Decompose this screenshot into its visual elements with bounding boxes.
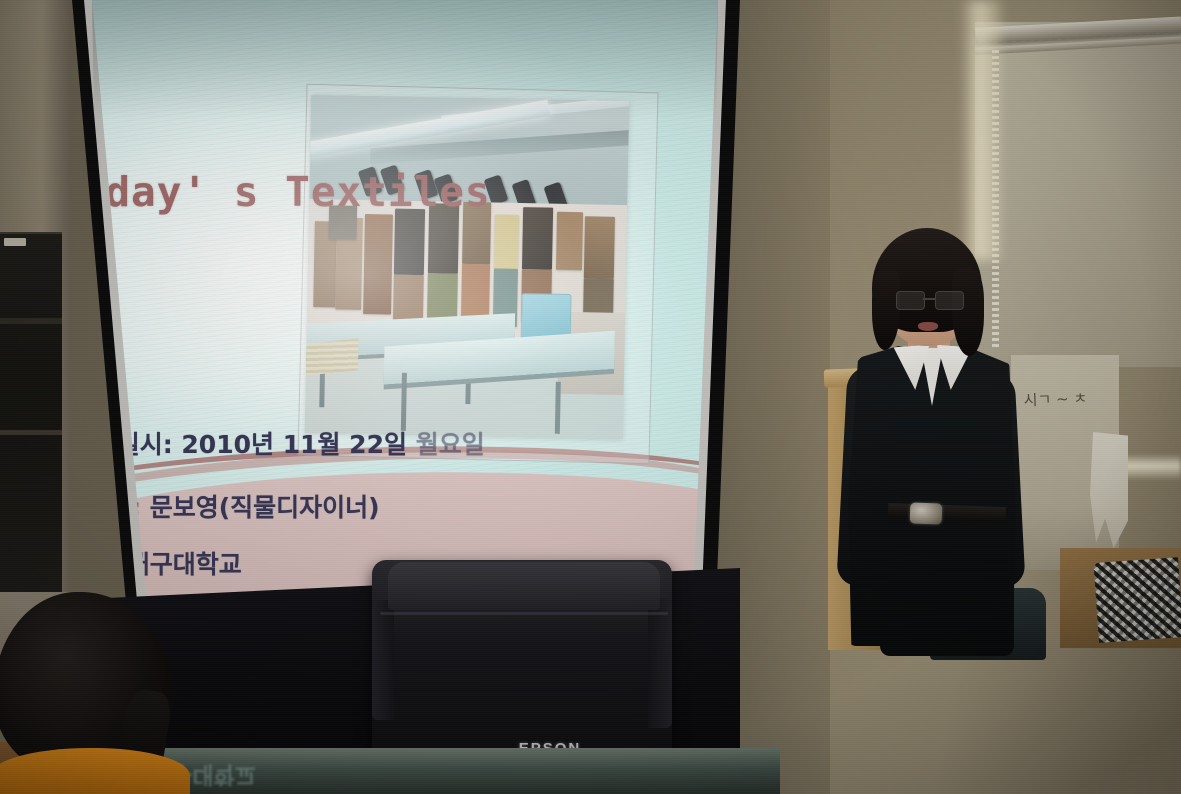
bag-side-pocket [372,600,394,720]
slide-line-presenter: 발표자: 문보영(직물디자이너) [62,488,380,524]
photo-scene: 시ㄱ ~ ㅊ [0,0,1181,794]
bag-seam [380,612,668,615]
slide-line-date-faded: 월요일 [407,430,485,459]
slide-photo [305,95,629,439]
glasses-lens [935,291,964,310]
slide-title: Today' s Textiles [54,168,491,216]
photo-haze-overlay [305,95,629,439]
slide-line-venue: 장소: 대구대학교 [62,545,242,581]
glasses-bridge [923,298,935,300]
bag-lid [388,562,660,610]
presenter-belt-buckle [910,502,943,524]
window-blind [975,22,1181,367]
shelf-label [4,238,26,246]
shelf-divider [0,318,62,324]
houndstooth-fabric [1093,557,1181,643]
board-handwriting: 시ㄱ ~ ㅊ [1023,391,1100,424]
glasses-lens [896,291,925,310]
presenter-glasses [896,291,962,308]
left-shelving-unit [0,232,62,594]
presenter-mouth [918,322,938,331]
projection-screen-surface: Today' s Textiles 강의 일시: 2010년 11월 22일 월… [40,0,740,625]
shelf-divider [0,430,62,435]
bag-side-pocket [648,598,672,728]
window-light-glow [960,0,1002,260]
presenter-hair-side [952,268,984,356]
table-reflection-text: 대구대학교 [150,742,450,794]
